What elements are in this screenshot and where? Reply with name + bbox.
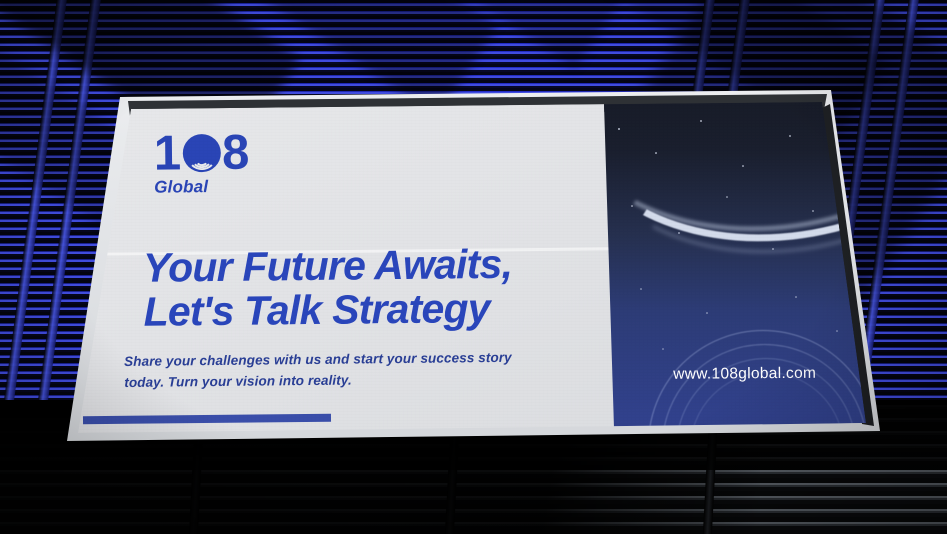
website-url[interactable]: www.108global.com	[673, 365, 816, 384]
headline-line-1: Your Future Awaits,	[143, 242, 573, 291]
logo-digit-eight: 8	[222, 128, 249, 177]
body-copy: Share your challenges with us and start …	[124, 348, 524, 394]
brand-logo[interactable]: 1 8 Global	[154, 130, 249, 198]
body-line-2: today. Turn your vision into reality.	[124, 369, 524, 394]
headline: Your Future Awaits, Let's Talk Strategy	[143, 242, 574, 334]
headline-line-2: Let's Talk Strategy	[143, 286, 573, 335]
concentric-circles-logo-icon	[183, 134, 221, 172]
body-line-1: Share your challenges with us and start …	[124, 348, 524, 373]
logo-wordmark: Global	[154, 177, 249, 198]
logo-digit-one: 1	[154, 129, 181, 178]
billboard-scene: 1 8 Global Your Future Awaits, Le	[0, 0, 947, 534]
